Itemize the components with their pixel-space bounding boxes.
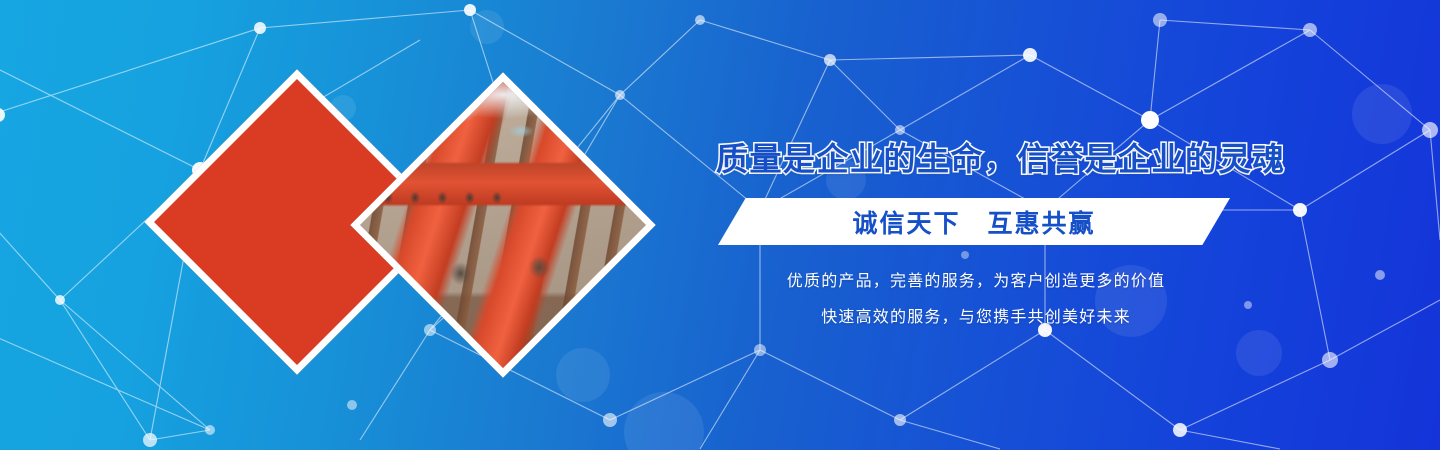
glow-blob [624, 392, 704, 450]
slogan-ribbon-text: 诚信天下 互惠共赢 [718, 198, 1230, 245]
glow-blob [1236, 330, 1282, 376]
product-image-flanged-shafts [350, 72, 655, 377]
banner-subtitle-line-1: 优质的产品，完善的服务，为客户创造更多的价值 [716, 267, 1236, 291]
glow-blob [556, 348, 610, 402]
banner-subtitle-line-2: 快速高效的服务，与您携手共创美好未来 [716, 303, 1236, 327]
promo-banner: 质量是企业的生命，信誉是企业的灵魂 诚信天下 互惠共赢 优质的产品，完善的服务，… [0, 0, 1440, 450]
banner-headline: 质量是企业的生命，信誉是企业的灵魂 [716, 134, 1236, 180]
flanged-shafts-pallets-photo [352, 74, 655, 377]
glow-blob [470, 10, 504, 44]
slogan-ribbon: 诚信天下 互惠共赢 [718, 198, 1230, 245]
glow-blob [1352, 84, 1412, 144]
